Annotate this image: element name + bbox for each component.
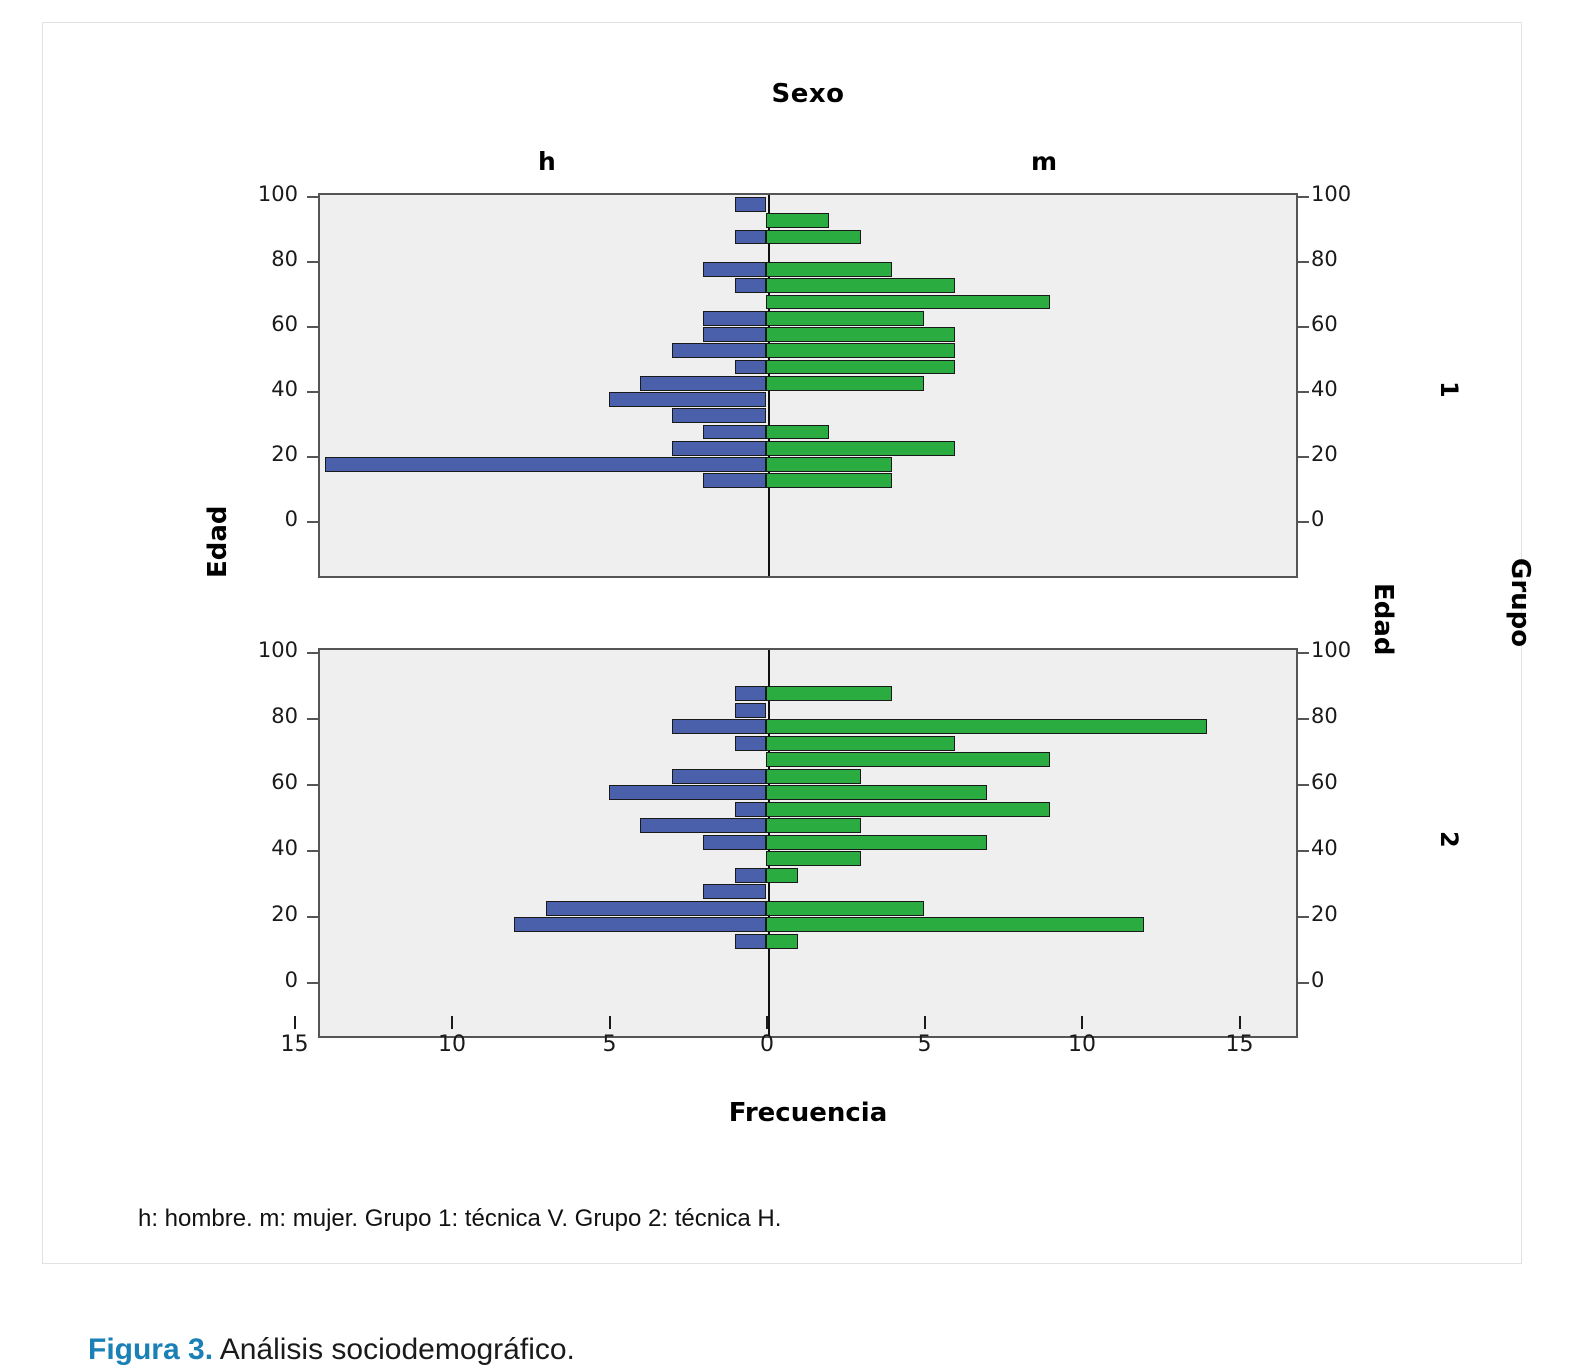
bar-h-40 [640,376,766,391]
group-label-1: 1 [1435,381,1463,398]
bar-h-80 [735,703,767,718]
y-tick-label-right: 100 [1311,182,1371,206]
x-axis-title: Frecuencia [518,1098,1098,1128]
y-tick-label-left: 0 [238,507,298,531]
x-tick-label: 0 [737,1032,797,1057]
y-tick-left [307,261,318,263]
x-tick-label: 10 [422,1032,482,1057]
y-tick-label-right: 60 [1311,312,1371,336]
y-tick-label-right: 60 [1311,770,1371,794]
figure-caption-text: Análisis sociodemográfico. [213,1333,575,1366]
bar-m-75 [766,719,1207,734]
y-tick-left [307,982,318,984]
y-tick-right [1298,196,1309,198]
bar-m-55 [766,785,987,800]
y-tick-label-right: 80 [1311,704,1371,728]
y-tick-left [307,652,318,654]
bar-m-20 [766,441,955,456]
y-tick-label-left: 80 [238,704,298,728]
bar-m-70 [766,736,955,751]
bar-h-55 [609,785,767,800]
bar-h-35 [609,392,767,407]
y-tick-label-right: 100 [1311,638,1371,662]
bar-m-60 [766,311,924,326]
y-tick-label-left: 40 [238,377,298,401]
bar-m-40 [766,835,987,850]
x-tick [451,1016,453,1029]
bar-m-85 [766,686,892,701]
bar-m-10 [766,473,892,488]
bar-h-45 [735,360,767,375]
bar-h-85 [735,230,767,245]
y-tick-label-right: 40 [1311,836,1371,860]
bar-m-20 [766,901,924,916]
x-tick-label: 5 [580,1032,640,1057]
bar-m-50 [766,802,1050,817]
bar-h-15 [325,457,766,472]
bar-m-30 [766,868,798,883]
bar-m-45 [766,360,955,375]
y-tick-right [1298,261,1309,263]
y-tick-right [1298,916,1309,918]
figure-frame: Sexo h m Edad Edad Grupo 1 2 Frecuencia … [42,22,1522,1264]
bar-m-75 [766,262,892,277]
y-tick-left [307,784,318,786]
bar-h-20 [672,441,767,456]
bar-m-50 [766,343,955,358]
bar-h-40 [703,835,766,850]
bar-m-25 [766,425,829,440]
y-axis-title-left: Edad [203,505,233,578]
bar-m-85 [766,230,861,245]
bar-m-35 [766,851,861,866]
bar-h-25 [703,425,766,440]
bar-h-30 [672,408,767,423]
y-tick-label-left: 0 [238,968,298,992]
y-tick-label-right: 40 [1311,377,1371,401]
bar-h-60 [672,769,767,784]
x-tick [1081,1016,1083,1029]
x-tick-label: 5 [895,1032,955,1057]
y-tick-label-left: 20 [238,442,298,466]
bar-h-45 [640,818,766,833]
bar-m-10 [766,934,798,949]
y-tick-right [1298,982,1309,984]
bar-h-30 [735,868,767,883]
y-tick-label-left: 40 [238,836,298,860]
bar-m-15 [766,457,892,472]
bar-h-60 [703,311,766,326]
bar-h-20 [546,901,767,916]
y-tick-right [1298,784,1309,786]
bar-m-55 [766,327,955,342]
y-tick-label-right: 20 [1311,902,1371,926]
bar-h-10 [703,473,766,488]
chart-title: Sexo [43,79,1571,109]
bar-m-65 [766,295,1050,310]
y-tick-label-left: 60 [238,770,298,794]
figure-number: Figura 3. [88,1333,213,1366]
y-tick-right [1298,652,1309,654]
y-tick-left [307,718,318,720]
x-tick-label: 10 [1052,1032,1112,1057]
y-tick-label-right: 0 [1311,507,1371,531]
y-tick-right [1298,521,1309,523]
y-tick-label-left: 20 [238,902,298,926]
bar-h-70 [735,278,767,293]
x-tick [924,1016,926,1029]
bar-h-75 [672,719,767,734]
bar-m-45 [766,818,861,833]
bar-m-60 [766,769,861,784]
y-tick-right [1298,718,1309,720]
y-tick-right [1298,391,1309,393]
bar-h-10 [735,934,767,949]
group-axis-title: Grupo [1505,558,1535,647]
bar-h-95 [735,197,767,212]
y-axis-title-right: Edad [1368,583,1398,656]
y-tick-label-left: 100 [238,182,298,206]
group-label-2: 2 [1435,831,1463,848]
bar-h-50 [735,802,767,817]
bar-h-50 [672,343,767,358]
x-tick-label: 15 [1210,1032,1270,1057]
y-tick-left [307,326,318,328]
y-tick-label-left: 100 [238,638,298,662]
bar-m-70 [766,278,955,293]
legend-label-male: h [538,147,556,176]
x-tick [294,1016,296,1029]
y-tick-label-right: 0 [1311,968,1371,992]
y-tick-label-right: 20 [1311,442,1371,466]
bar-h-70 [735,736,767,751]
figure-footnote: h: hombre. m: mujer. Grupo 1: técnica V.… [138,1205,781,1233]
y-tick-label-left: 60 [238,312,298,336]
y-tick-right [1298,850,1309,852]
y-tick-left [307,391,318,393]
bar-h-15 [514,917,766,932]
x-tick [766,1016,768,1029]
y-tick-label-right: 80 [1311,247,1371,271]
legend-label-female: m [1031,147,1057,176]
y-tick-right [1298,456,1309,458]
bar-h-75 [703,262,766,277]
bar-h-25 [703,884,766,899]
figure-caption: Figura 3. Análisis sociodemográfico. [88,1333,575,1367]
bar-h-55 [703,327,766,342]
bar-m-40 [766,376,924,391]
x-tick [609,1016,611,1029]
y-tick-left [307,850,318,852]
bar-h-85 [735,686,767,701]
y-tick-left [307,196,318,198]
bar-m-90 [766,213,829,228]
y-tick-left [307,916,318,918]
x-tick [1239,1016,1241,1029]
y-tick-right [1298,326,1309,328]
bar-m-65 [766,752,1050,767]
bar-m-15 [766,917,1144,932]
y-tick-left [307,521,318,523]
y-tick-label-left: 80 [238,247,298,271]
x-tick-label: 15 [265,1032,325,1057]
y-tick-left [307,456,318,458]
